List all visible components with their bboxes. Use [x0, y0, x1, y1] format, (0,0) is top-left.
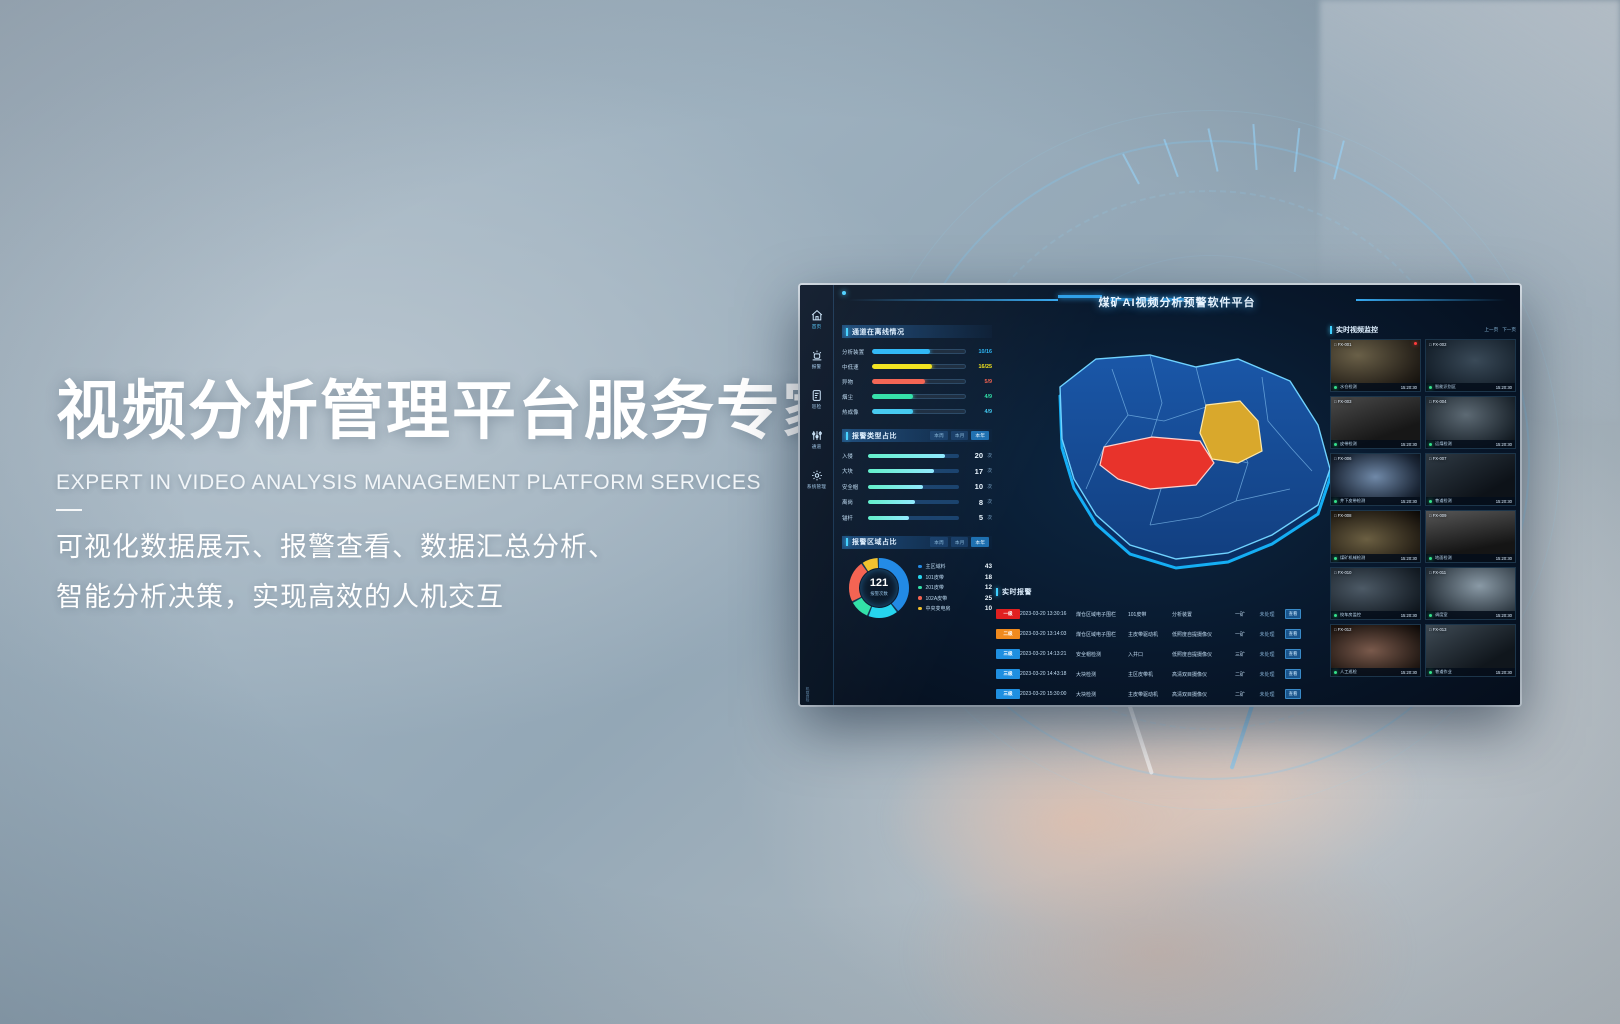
alarm-table-panel: 实时报警 一级2023-03-20 13:30:16煤仓区域电子围栏101皮带分… — [996, 585, 1324, 697]
video-label: 地面检测 — [1435, 555, 1452, 561]
hero-line-2: 智能分析决策，实现高效的人机交互 — [56, 573, 836, 623]
video-footer: 智能识别区15:20:30 — [1426, 383, 1515, 391]
channel-status-row: 热成像4/9 — [842, 404, 992, 419]
video-tile[interactable]: □ FX-007巷道检测15:20:30 — [1425, 453, 1516, 506]
alarm-area-title-bar: 报警区域占比 本周本月本年 — [842, 536, 992, 549]
video-tile[interactable]: □ FX-011调度室15:20:30 — [1425, 567, 1516, 620]
alarm-type-track — [868, 500, 959, 504]
video-label: 井下皮带检测 — [1340, 498, 1365, 504]
video-footer: 煤矿机械检测15:20:30 — [1331, 554, 1420, 562]
hero-line-1: 可视化数据展示、报警查看、数据汇总分析、 — [56, 523, 836, 573]
status-badge: 三级 — [996, 689, 1020, 699]
alarm-type-row: 离岗8次 — [842, 495, 992, 511]
alarm-device: 低照度自提摄像仪 — [1172, 631, 1228, 638]
channel-bar-fill — [872, 349, 930, 354]
online-status-dot — [1334, 500, 1337, 503]
table-row[interactable]: 二级2023-03-20 13:14:03煤仓区域电子围栏主皮带驱动机低照度自提… — [996, 624, 1324, 644]
alarm-type-fill — [868, 454, 945, 458]
table-row[interactable]: 一级2023-03-20 13:30:16煤仓区域电子围栏101皮带分析装置一矿… — [996, 604, 1324, 624]
alarm-type-label: 锚杆 — [842, 514, 868, 522]
alarm-area-title: 报警区域占比 — [852, 537, 897, 547]
legend-value: 43 — [985, 563, 992, 570]
left-panel-column: 通道在离线情况 分析装置10/16中低速16/25异物5/9烟尘4/9热成像4/… — [842, 325, 992, 697]
donut-legend-item: 101皮带18 — [918, 572, 992, 583]
alarm-location: 入井口 — [1128, 651, 1172, 658]
online-status-dot — [1334, 614, 1337, 617]
channel-bar-track — [872, 364, 966, 369]
alarm-type-unit: 次 — [983, 499, 992, 505]
channel-bar-track — [872, 379, 966, 384]
video-footer: 运煤检测15:20:30 — [1426, 440, 1515, 448]
alarm-type-count: 5 — [959, 513, 983, 522]
table-row[interactable]: 三级2023-03-20 14:13:21安全帽检测入井口低照度自提摄像仪三矿未… — [996, 644, 1324, 664]
video-code: □ FX-012 — [1334, 627, 1351, 632]
alarm-table-title: 实时报警 — [1002, 587, 1032, 597]
alarm-type-track — [868, 469, 959, 473]
channel-label: 中低速 — [842, 363, 872, 371]
channel-label: 热成像 — [842, 408, 872, 416]
channel-value: 16/25 — [966, 364, 992, 370]
video-label: 皮带检测 — [1340, 441, 1357, 447]
table-row[interactable]: 三级2023-03-20 14:43:18大块检测主区皮带机高清双目摄像仪二矿未… — [996, 664, 1324, 684]
alarm-area-chart: 121 报警次数 主区域料43101皮带18201皮带12102A皮带25中央变… — [842, 555, 992, 621]
video-footer: 巷道作业15:20:30 — [1426, 668, 1515, 676]
legend-label: 201皮带 — [926, 584, 985, 591]
channel-value: 5/9 — [966, 379, 992, 385]
alarm-type-row: 大块17次 — [842, 464, 992, 480]
channel-label: 异物 — [842, 378, 872, 386]
time-range-tab[interactable]: 本周 — [930, 537, 948, 547]
channel-value: 10/16 — [966, 349, 992, 355]
alarm-type-row: 锚杆5次 — [842, 510, 992, 526]
sidebar-item-home[interactable]: 首页 — [802, 309, 832, 330]
hero-subtitle: EXPERT IN VIDEO ANALYSIS MANAGEMENT PLAT… — [56, 471, 836, 495]
alarm-type-label: 入侵 — [842, 452, 868, 460]
alarm-action[interactable]: 查看 — [1282, 649, 1304, 659]
video-tile[interactable]: □ FX-001水仓检测15:20:30 — [1330, 339, 1421, 392]
online-status-dot — [1429, 500, 1432, 503]
view-button[interactable]: 查看 — [1285, 649, 1302, 659]
channel-label: 烟尘 — [842, 393, 872, 401]
alarm-mine: 二矿 — [1228, 691, 1252, 698]
channel-status-row: 异物5/9 — [842, 374, 992, 389]
video-timestamp: 15:20:30 — [1401, 613, 1417, 618]
title-accent — [1330, 326, 1332, 334]
alarm-device: 高清双目摄像仪 — [1172, 691, 1228, 698]
gear-icon — [810, 469, 824, 482]
hero-copy: 视频分析管理平台服务专家 EXPERT IN VIDEO ANALYSIS MA… — [56, 378, 836, 623]
alarm-type-tabs[interactable]: 本周本月本年 — [930, 431, 992, 441]
legend-color-dot — [918, 586, 922, 590]
video-label: 运煤检测 — [1435, 441, 1452, 447]
video-footer: 地面检测15:20:30 — [1426, 554, 1515, 562]
view-button[interactable]: 查看 — [1285, 669, 1302, 679]
alarm-device: 分析装置 — [1172, 611, 1228, 618]
channel-status-panel: 通道在离线情况 分析装置10/16中低速16/25异物5/9烟尘4/9热成像4/… — [842, 325, 992, 419]
status-badge: 三级 — [996, 669, 1020, 679]
alarm-action[interactable]: 查看 — [1282, 629, 1304, 639]
channel-bar-track — [872, 409, 966, 414]
alarm-mine: 三矿 — [1228, 651, 1252, 658]
video-panel-header: 实时视频监控 上一页 下一页 — [1330, 325, 1516, 335]
legend-label: 中央变电房 — [926, 605, 985, 612]
sidebar-item-channel[interactable]: 通道 — [802, 429, 832, 450]
video-tile[interactable]: □ FX-008煤矿机械检测15:20:30 — [1330, 510, 1421, 563]
alarm-time: 2023-03-20 14:43:18 — [1020, 671, 1076, 677]
online-status-dot — [1334, 443, 1337, 446]
alarm-device: 高清双目摄像仪 — [1172, 671, 1228, 678]
video-timestamp: 15:20:30 — [1496, 442, 1512, 447]
video-timestamp: 15:20:30 — [1496, 499, 1512, 504]
alarm-type-unit: 次 — [983, 484, 992, 490]
alarm-icon — [810, 349, 824, 362]
alarm-status: 未处理 — [1252, 691, 1282, 698]
divider-rule — [56, 509, 82, 511]
video-tile[interactable]: □ FX-003皮带检测15:20:30 — [1330, 396, 1421, 449]
legend-label: 102A皮带 — [926, 595, 985, 602]
donut-legend-item: 主区域料43 — [918, 561, 992, 572]
online-status-dot — [1334, 671, 1337, 674]
alarm-action[interactable]: 查看 — [1282, 689, 1304, 699]
video-code: □ FX-009 — [1429, 513, 1446, 518]
sidebar-label-alarm: 报警 — [802, 364, 832, 370]
recording-indicator — [1414, 342, 1417, 345]
video-label: 巷道检测 — [1435, 498, 1452, 504]
status-badge: 三级 — [996, 649, 1020, 659]
view-button[interactable]: 查看 — [1285, 689, 1302, 699]
sidebar-item-alarm[interactable]: 报警 — [802, 349, 832, 370]
video-label: 巷道作业 — [1435, 669, 1452, 675]
alarm-type-rows: 入侵20次大块17次安全帽10次离岗8次锚杆5次 — [842, 448, 992, 526]
video-label: 绞车房监控 — [1340, 612, 1361, 618]
alarm-type-label: 大块 — [842, 467, 868, 475]
donut-chart: 121 报警次数 — [846, 555, 912, 621]
channel-status-title: 通道在离线情况 — [852, 327, 905, 337]
legend-label: 主区域料 — [926, 563, 985, 570]
map-svg — [1000, 329, 1370, 589]
video-tile[interactable]: □ FX-006井下皮带检测15:20:30 — [1330, 453, 1421, 506]
alarm-type-title-bar: 报警类型占比 本周本月本年 — [842, 429, 992, 442]
alarm-time: 2023-03-20 14:13:21 — [1020, 651, 1076, 657]
legend-value: 18 — [985, 574, 992, 581]
page-title: 视频分析管理平台服务专家 — [56, 378, 836, 445]
alarm-type-track — [868, 516, 959, 520]
alarm-status: 未处理 — [1252, 631, 1282, 638]
donut-caption: 报警次数 — [870, 591, 888, 597]
time-range-tab[interactable]: 本周 — [930, 431, 948, 441]
video-code: □ FX-002 — [1429, 342, 1446, 347]
video-tile[interactable]: □ FX-010绞车房监控15:20:30 — [1330, 567, 1421, 620]
channel-icon — [810, 429, 824, 442]
alarm-type: 大块检测 — [1076, 671, 1128, 678]
channel-value: 4/9 — [966, 409, 992, 415]
legend-color-dot — [918, 596, 922, 600]
alarm-type-title: 报警类型占比 — [852, 431, 897, 441]
channel-bar-fill — [872, 364, 932, 369]
inspection-icon — [810, 389, 824, 402]
video-footer: 巷道检测15:20:30 — [1426, 497, 1515, 505]
alarm-type-unit: 次 — [983, 453, 992, 459]
time-range-tab[interactable]: 本月 — [951, 537, 969, 547]
video-code: □ FX-004 — [1429, 399, 1446, 404]
video-timestamp: 15:20:30 — [1401, 556, 1417, 561]
alarm-status: 未处理 — [1252, 671, 1282, 678]
video-tile[interactable]: □ FX-009地面检测15:20:30 — [1425, 510, 1516, 563]
video-tile[interactable]: □ FX-004运煤检测15:20:30 — [1425, 396, 1516, 449]
channel-bar-fill — [872, 409, 913, 414]
alarm-type-fill — [868, 469, 934, 473]
alarm-table-body: 一级2023-03-20 13:30:16煤仓区域电子围栏101皮带分析装置一矿… — [996, 604, 1324, 704]
alarm-mine: 二矿 — [1228, 671, 1252, 678]
alarm-location: 主皮带驱动机 — [1128, 631, 1172, 638]
channel-status-row: 烟尘4/9 — [842, 389, 992, 404]
donut-legend-item: 中央变电房10 — [918, 603, 992, 614]
donut-legend-item: 102A皮带25 — [918, 593, 992, 604]
dashboard-header: 煤矿AI视频分析预警软件平台 — [834, 285, 1520, 319]
video-timestamp: 15:20:30 — [1496, 556, 1512, 561]
channel-bar-fill — [872, 379, 925, 384]
channel-status-rows: 分析装置10/16中低速16/25异物5/9烟尘4/9热成像4/9 — [842, 344, 992, 419]
alarm-mine: 一矿 — [1228, 611, 1252, 618]
video-code: □ FX-001 — [1334, 342, 1351, 347]
alarm-type-unit: 次 — [983, 515, 992, 521]
sidebar: 首页 报警 巡检 通道 — [800, 285, 834, 705]
alarm-type-count: 10 — [959, 482, 983, 491]
video-label: 煤矿机械检测 — [1340, 555, 1365, 561]
alarm-device: 低照度自提摄像仪 — [1172, 651, 1228, 658]
video-pagination[interactable]: 上一页 下一页 — [1484, 327, 1516, 333]
alarm-action[interactable]: 查看 — [1282, 609, 1304, 619]
view-button[interactable]: 查看 — [1285, 629, 1302, 639]
alarm-type-count: 17 — [959, 467, 983, 476]
video-tile[interactable]: □ FX-013巷道作业15:20:30 — [1425, 624, 1516, 677]
alarm-type: 煤仓区域电子围栏 — [1076, 611, 1128, 618]
alarm-time: 2023-03-20 13:14:03 — [1020, 631, 1076, 637]
time-range-tab[interactable]: 本月 — [951, 431, 969, 441]
sidebar-label-system: 系统管理 — [802, 484, 832, 490]
online-status-dot — [1429, 557, 1432, 560]
alarm-type-panel: 报警类型占比 本周本月本年 入侵20次大块17次安全帽10次离岗8次锚杆5次 — [842, 429, 992, 526]
next-page-button[interactable]: 下一页 — [1502, 327, 1516, 333]
time-range-tab[interactable]: 本年 — [971, 431, 989, 441]
alarm-type-label: 离岗 — [842, 498, 868, 506]
video-timestamp: 15:20:30 — [1401, 499, 1417, 504]
alarm-status: 未处理 — [1252, 611, 1282, 618]
alarm-type-track — [868, 485, 959, 489]
alarm-type: 煤仓区域电子围栏 — [1076, 631, 1128, 638]
sidebar-item-inspection[interactable]: 巡检 — [802, 389, 832, 410]
video-footer: 调度室15:20:30 — [1426, 611, 1515, 619]
dashboard-title: 煤矿AI视频分析预警软件平台 — [1099, 294, 1256, 310]
online-status-dot — [1429, 614, 1432, 617]
video-monitor-panel: 实时视频监控 上一页 下一页 □ FX-001水仓检测15:20:30□ FX-… — [1330, 325, 1516, 699]
prev-page-button[interactable]: 上一页 — [1484, 327, 1498, 333]
video-label: 智能识别区 — [1435, 384, 1456, 390]
video-footer: 井下皮带检测15:20:30 — [1331, 497, 1420, 505]
online-status-dot — [1429, 386, 1432, 389]
channel-status-row: 分析装置10/16 — [842, 344, 992, 359]
home-icon — [810, 309, 824, 322]
monitor-frame: 首页 报警 巡检 通道 — [800, 285, 1520, 705]
legend-label: 101皮带 — [926, 574, 985, 581]
alarm-action[interactable]: 查看 — [1282, 669, 1304, 679]
donut-total: 121 — [870, 578, 888, 589]
title-accent — [846, 538, 848, 546]
alarm-type-track — [868, 454, 959, 458]
dashboard-screen: 首页 报警 巡检 通道 — [800, 285, 1520, 705]
legend-value: 25 — [985, 595, 992, 602]
alarm-type-fill — [868, 516, 909, 520]
alarm-type-label: 安全帽 — [842, 483, 868, 491]
legend-color-dot — [918, 565, 922, 569]
alarm-location: 主区皮带机 — [1128, 671, 1172, 678]
video-code: □ FX-003 — [1334, 399, 1351, 404]
channel-label: 分析装置 — [842, 348, 872, 356]
alarm-mine: 一矿 — [1228, 631, 1252, 638]
video-timestamp: 15:20:30 — [1496, 670, 1512, 675]
alarm-table-title-bar: 实时报警 — [996, 585, 1324, 598]
alarm-area-tabs[interactable]: 本周本月本年 — [930, 537, 992, 547]
video-code: □ FX-011 — [1429, 570, 1446, 575]
alarm-time: 2023-03-20 13:30:16 — [1020, 611, 1076, 617]
channel-status-title-bar: 通道在离线情况 — [842, 325, 992, 338]
video-timestamp: 15:20:30 — [1496, 385, 1512, 390]
channel-status-row: 中低速16/25 — [842, 359, 992, 374]
video-timestamp: 15:20:30 — [1401, 385, 1417, 390]
legend-color-dot — [918, 607, 922, 611]
alarm-type-row: 安全帽10次 — [842, 479, 992, 495]
video-footer: 人工巡检15:20:30 — [1331, 668, 1420, 676]
legend-color-dot — [918, 575, 922, 579]
table-row[interactable]: 三级2023-03-20 15:30:00大块检测主皮带驱动机高清双目摄像仪二矿… — [996, 684, 1324, 704]
alarm-time: 2023-03-20 15:30:00 — [1020, 691, 1076, 697]
video-footer: 绞车房监控15:20:30 — [1331, 611, 1420, 619]
video-tile[interactable]: □ FX-012人工巡检15:20:30 — [1330, 624, 1421, 677]
video-code: □ FX-013 — [1429, 627, 1446, 632]
alarm-type: 大块检测 — [1076, 691, 1128, 698]
video-code: □ FX-006 — [1334, 456, 1351, 461]
online-status-dot — [1334, 386, 1337, 389]
online-status-dot — [1334, 557, 1337, 560]
donut-legend: 主区域料43101皮带18201皮带12102A皮带25中央变电房10 — [912, 561, 992, 614]
title-accent — [846, 328, 848, 336]
video-footer: 皮带检测15:20:30 — [1331, 440, 1420, 448]
screen-footer-note: 机载自检 — [806, 687, 811, 701]
sidebar-label-channel: 通道 — [802, 444, 832, 450]
online-status-dot — [1429, 443, 1432, 446]
time-range-tab[interactable]: 本年 — [971, 537, 989, 547]
channel-bar-track — [872, 394, 966, 399]
video-tile[interactable]: □ FX-002智能识别区15:20:30 — [1425, 339, 1516, 392]
video-timestamp: 15:20:30 — [1401, 442, 1417, 447]
alarm-area-panel: 报警区域占比 本周本月本年 121 报警次数 主区域料431 — [842, 536, 992, 621]
alarm-location: 101皮带 — [1128, 611, 1172, 618]
title-accent — [996, 588, 998, 596]
video-code: □ FX-010 — [1334, 570, 1351, 575]
video-label: 调度室 — [1435, 612, 1448, 618]
donut-center: 121 报警次数 — [860, 569, 898, 607]
alarm-type: 安全帽检测 — [1076, 651, 1128, 658]
video-label: 人工巡检 — [1340, 669, 1357, 675]
channel-value: 4/9 — [966, 394, 992, 400]
alarm-location: 主皮带驱动机 — [1128, 691, 1172, 698]
video-panel-title: 实时视频监控 — [1336, 325, 1378, 335]
province-map[interactable] — [1000, 329, 1370, 589]
status-badge: 一级 — [996, 609, 1020, 619]
video-timestamp: 15:20:30 — [1401, 670, 1417, 675]
alarm-type-count: 8 — [959, 498, 983, 507]
alarm-type-unit: 次 — [983, 468, 992, 474]
legend-value: 12 — [985, 584, 992, 591]
sidebar-label-home: 首页 — [802, 324, 832, 330]
video-footer: 水仓检测15:20:30 — [1331, 383, 1420, 391]
video-grid: □ FX-001水仓检测15:20:30□ FX-002智能识别区15:20:3… — [1330, 339, 1516, 677]
alarm-type-fill — [868, 485, 923, 489]
sidebar-label-inspection: 巡检 — [802, 404, 832, 410]
status-badge: 二级 — [996, 629, 1020, 639]
alarm-status: 未处理 — [1252, 651, 1282, 658]
video-label: 水仓检测 — [1340, 384, 1357, 390]
channel-bar-track — [872, 349, 966, 354]
video-timestamp: 15:20:30 — [1496, 613, 1512, 618]
alarm-type-fill — [868, 500, 915, 504]
sidebar-item-system[interactable]: 系统管理 — [802, 469, 832, 490]
title-accent — [846, 432, 848, 440]
video-code: □ FX-007 — [1429, 456, 1446, 461]
alarm-type-row: 入侵20次 — [842, 448, 992, 464]
donut-legend-item: 201皮带12 — [918, 582, 992, 593]
alarm-type-count: 20 — [959, 451, 983, 460]
video-code: □ FX-008 — [1334, 513, 1351, 518]
legend-value: 10 — [985, 605, 992, 612]
view-button[interactable]: 查看 — [1285, 609, 1302, 619]
online-status-dot — [1429, 671, 1432, 674]
channel-bar-fill — [872, 394, 913, 399]
